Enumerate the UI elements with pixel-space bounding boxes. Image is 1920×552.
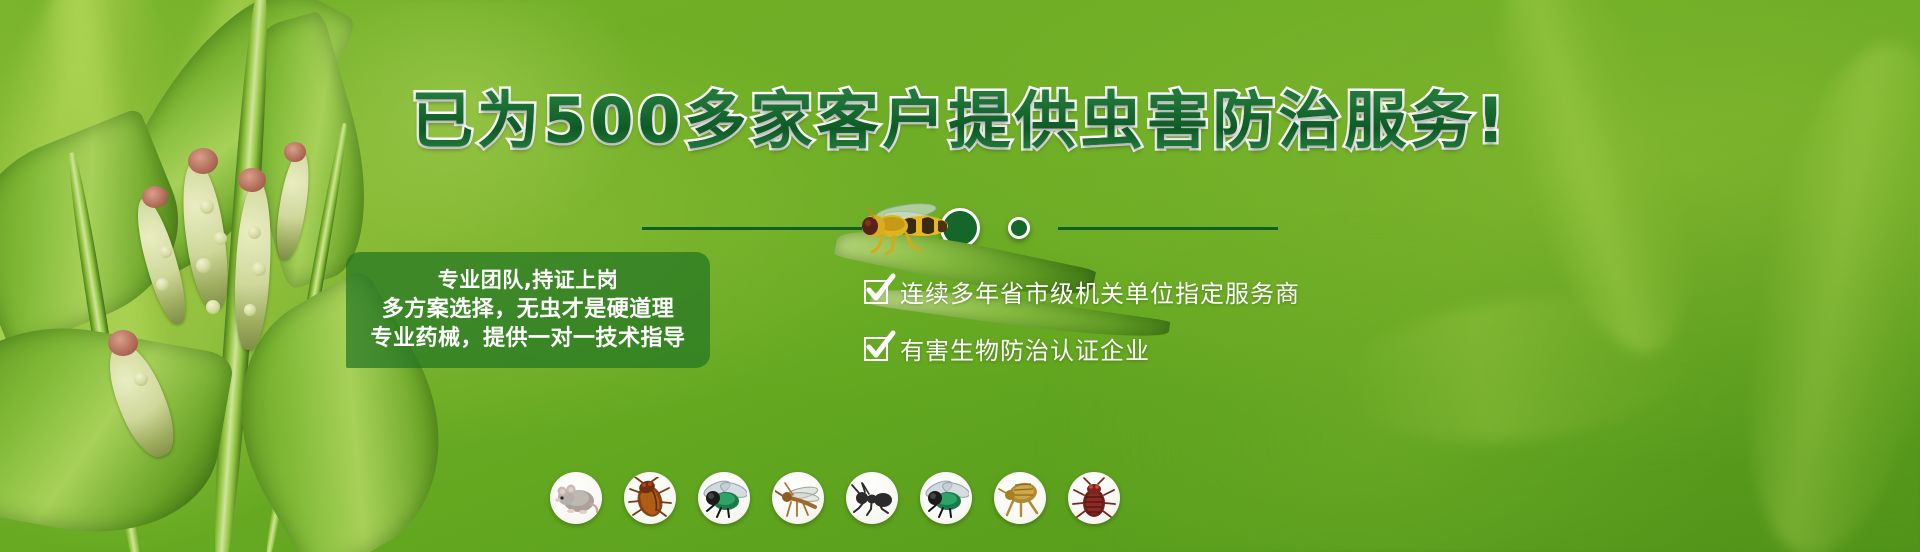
divider-line-right: [1058, 227, 1278, 230]
page-title: 已为500多家客户提供虫害防治服务!: [0, 70, 1920, 160]
feature-check-list: 连续多年省市级机关单位指定服务商 有害生物防治认证企业: [864, 274, 1300, 388]
hoverfly-icon: [848, 200, 958, 260]
plant-bud-tip: [108, 330, 138, 356]
plant-seed: [134, 372, 148, 386]
plant-seed: [156, 278, 169, 291]
info-panel-line-1: 专业团队,持证上岗: [356, 267, 700, 295]
plant-seed: [206, 300, 220, 314]
divider-line-left: [642, 227, 862, 230]
plant-bud-tip: [142, 186, 168, 208]
pest-icon-row: [550, 472, 1120, 524]
plant-seed: [244, 304, 256, 316]
ant-icon[interactable]: [846, 472, 898, 524]
checkbox-checked-icon: [864, 337, 888, 361]
rodent-icon[interactable]: [550, 472, 602, 524]
plant-seed: [196, 258, 211, 273]
info-panel-line-2: 多方案选择，无虫才是硬道理: [356, 295, 700, 324]
cockroach-icon[interactable]: [624, 472, 676, 524]
info-panel-line-3: 专业药械，提供一对一技术指导: [356, 324, 700, 353]
divider-dot-small-right: [1008, 217, 1030, 239]
promo-banner: 已为500多家客户提供虫害防治服务! 已为500多家客户提供虫害防治服务!: [0, 0, 1920, 552]
list-item: 连续多年省市级机关单位指定服务商: [864, 274, 1300, 309]
bedbug-icon[interactable]: [1068, 472, 1120, 524]
flea-icon[interactable]: [994, 472, 1046, 524]
check-item-label: 有害生物防治认证企业: [900, 331, 1150, 366]
plant-seed: [252, 262, 266, 276]
mosquito-icon[interactable]: [772, 472, 824, 524]
check-item-label: 连续多年省市级机关单位指定服务商: [900, 274, 1300, 309]
list-item: 有害生物防治认证企业: [864, 331, 1300, 366]
fly-icon-2[interactable]: [920, 472, 972, 524]
plant-bud-tip: [238, 168, 266, 192]
fly-icon[interactable]: [698, 472, 750, 524]
checkbox-checked-icon: [864, 280, 888, 304]
info-panel: 专业团队,持证上岗 多方案选择，无虫才是硬道理 专业药械，提供一对一技术指导: [346, 252, 710, 368]
